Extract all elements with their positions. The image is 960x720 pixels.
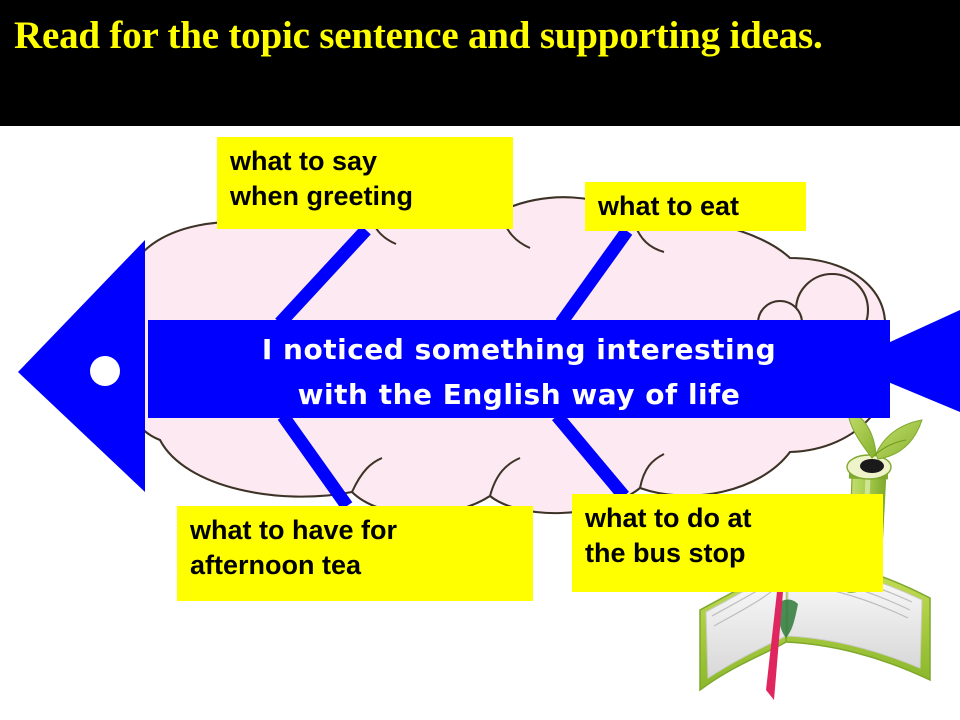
rib-bottom-left xyxy=(283,416,347,506)
slide-title-bar: Read for the topic sentence and supporti… xyxy=(0,0,960,126)
note-what-to-eat[interactable]: what to eat xyxy=(585,182,806,231)
note-what-to-do-at-the-bus-stop[interactable]: what to do at the bus stop xyxy=(572,494,883,592)
fishbone-spine-label: I noticed something interesting with the… xyxy=(148,327,890,417)
fish-tail-icon xyxy=(888,310,960,412)
rib-bottom-right xyxy=(557,416,624,496)
rib-top-left xyxy=(280,230,366,323)
page-title: Read for the topic sentence and supporti… xyxy=(14,12,942,60)
fish-head-arrow-icon xyxy=(18,240,145,492)
note-what-to-have-for-afternoon-tea[interactable]: what to have for afternoon tea xyxy=(177,506,533,601)
fishbone-spine: I noticed something interesting with the… xyxy=(148,320,890,418)
rib-top-right xyxy=(561,231,627,323)
note-what-to-say-when-greeting[interactable]: what to say when greeting xyxy=(217,137,513,229)
slide-canvas: Read for the topic sentence and supporti… xyxy=(0,0,960,720)
fish-eye-icon xyxy=(90,356,120,386)
